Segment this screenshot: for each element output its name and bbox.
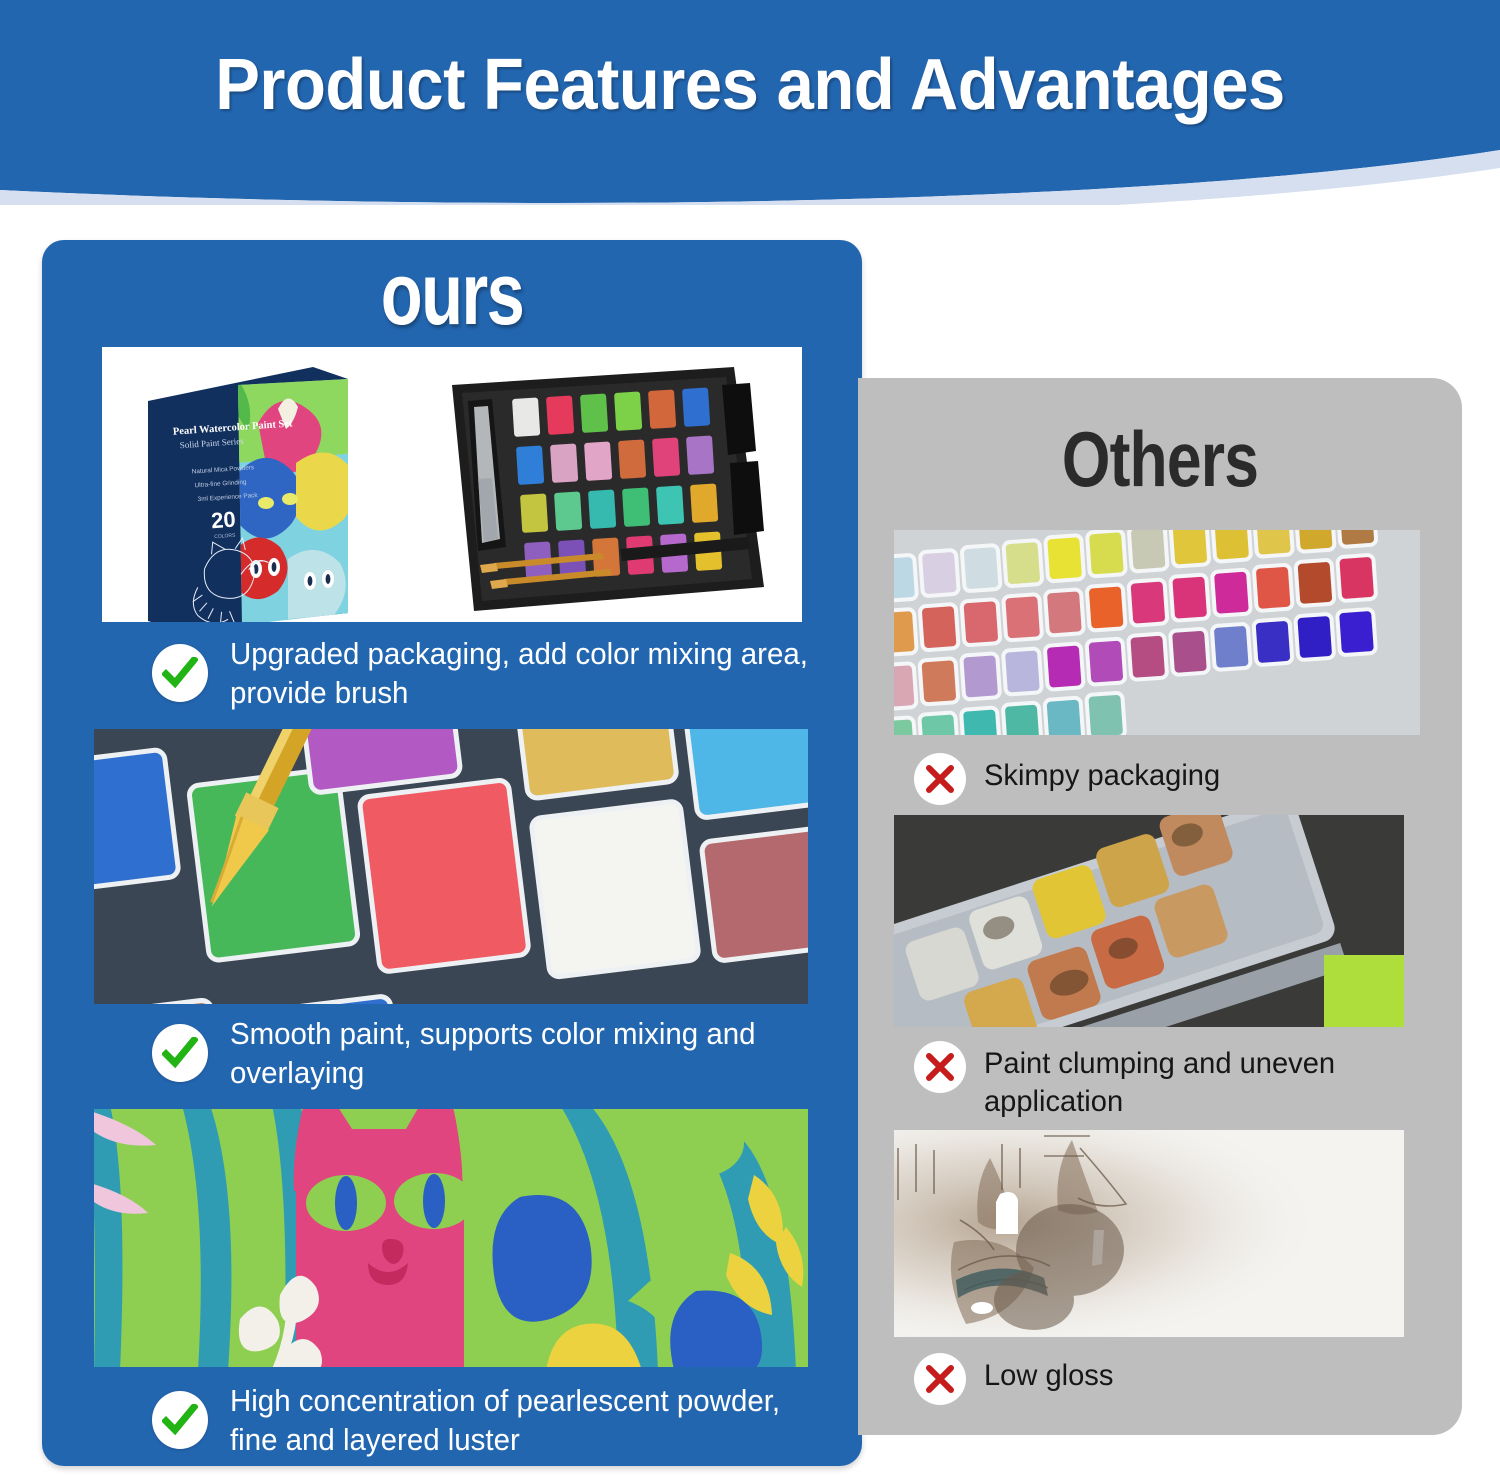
ours-panel: ours [42, 240, 862, 1466]
ours-feature-2: Smooth paint, supports color mixing and … [152, 1008, 852, 1098]
check-icon [152, 1391, 208, 1449]
cross-icon [914, 753, 966, 805]
others-photo-packaging [894, 530, 1420, 735]
others-photo-low-gloss [894, 1130, 1404, 1337]
ours-feature-1: Upgraded packaging, add color mixing are… [152, 628, 852, 718]
others-drawback-1: Skimpy packaging [914, 753, 1434, 805]
ours-feature-2-text: Smooth paint, supports color mixing and … [230, 1014, 821, 1092]
ours-panel-title: ours [132, 248, 772, 340]
ours-photo-smooth-paint [90, 725, 812, 1008]
cross-icon [914, 1041, 966, 1093]
ours-feature-3-text: High concentration of pearlescent powder… [230, 1381, 830, 1459]
others-drawback-3: Low gloss [914, 1353, 1434, 1405]
others-photo-clumping [894, 815, 1404, 1027]
others-drawback-2: Paint clumping and uneven application [914, 1041, 1434, 1121]
others-drawback-2-text: Paint clumping and uneven application [984, 1041, 1421, 1121]
ours-feature-1-text: Upgraded packaging, add color mixing are… [230, 634, 821, 712]
others-drawback-1-text: Skimpy packaging [984, 753, 1220, 795]
check-icon [152, 644, 208, 702]
ours-photo-packaging: Pearl Watercolor Paint Set Solid Paint S… [102, 347, 802, 622]
check-icon [152, 1024, 208, 1082]
cross-icon [914, 1353, 966, 1405]
others-drawback-3-text: Low gloss [984, 1353, 1113, 1395]
ours-feature-3: High concentration of pearlescent powder… [152, 1375, 862, 1465]
page-title: Product Features and Advantages [53, 44, 1448, 126]
ours-photo-cat-artwork [90, 1105, 812, 1371]
svg-text:20: 20 [210, 507, 236, 534]
others-panel-title: Others [918, 418, 1401, 500]
others-panel: Others [858, 378, 1462, 1435]
page-header: Product Features and Advantages [0, 0, 1500, 205]
